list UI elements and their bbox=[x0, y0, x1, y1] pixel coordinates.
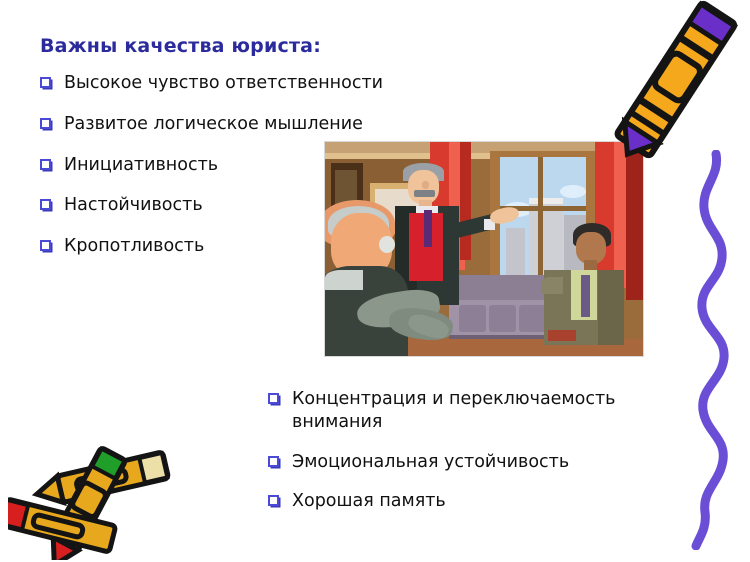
checkbox-bullet-icon bbox=[268, 495, 279, 506]
list-item-label: Кропотливость bbox=[64, 236, 204, 256]
illustration-lawyer-scene bbox=[324, 141, 644, 357]
checkbox-bullet-icon bbox=[40, 118, 51, 129]
list-item-label: Инициативность bbox=[64, 155, 218, 175]
list-item-label: Эмоциональная устойчивость bbox=[292, 452, 569, 472]
list-item: Концентрация и переключаемость внимания bbox=[268, 388, 668, 434]
yellow-crayon-icon bbox=[600, 0, 750, 167]
list-item: Высокое чувство ответственности bbox=[40, 72, 440, 95]
list-item: Развитое логическое мышление bbox=[40, 113, 440, 136]
list-item-label: Высокое чувство ответственности bbox=[64, 73, 383, 93]
slide-canvas: Важны качества юриста: Высокое чувство о… bbox=[0, 0, 750, 562]
purple-squiggle-icon bbox=[676, 150, 750, 550]
checkbox-bullet-icon bbox=[40, 159, 51, 170]
checkbox-bullet-icon bbox=[40, 240, 51, 251]
checkbox-bullet-icon bbox=[40, 199, 51, 210]
list-item: Эмоциональная устойчивость bbox=[268, 451, 668, 474]
list-item-label: Хорошая память bbox=[292, 491, 446, 511]
list-item-label: Настойчивость bbox=[64, 195, 203, 215]
list-item: Хорошая память bbox=[268, 490, 668, 513]
list-item-label: Концентрация и переключаемость внимания bbox=[292, 389, 615, 432]
checkbox-bullet-icon bbox=[268, 456, 279, 467]
crossed-crayons-icon bbox=[8, 438, 198, 560]
checkbox-bullet-icon bbox=[40, 77, 51, 88]
list-item-label: Развитое логическое мышление bbox=[64, 114, 363, 134]
checkbox-bullet-icon bbox=[268, 393, 279, 404]
page-title: Важны качества юриста: bbox=[40, 35, 321, 57]
qualities-secondary-list: Концентрация и переключаемость внимания … bbox=[268, 388, 668, 530]
